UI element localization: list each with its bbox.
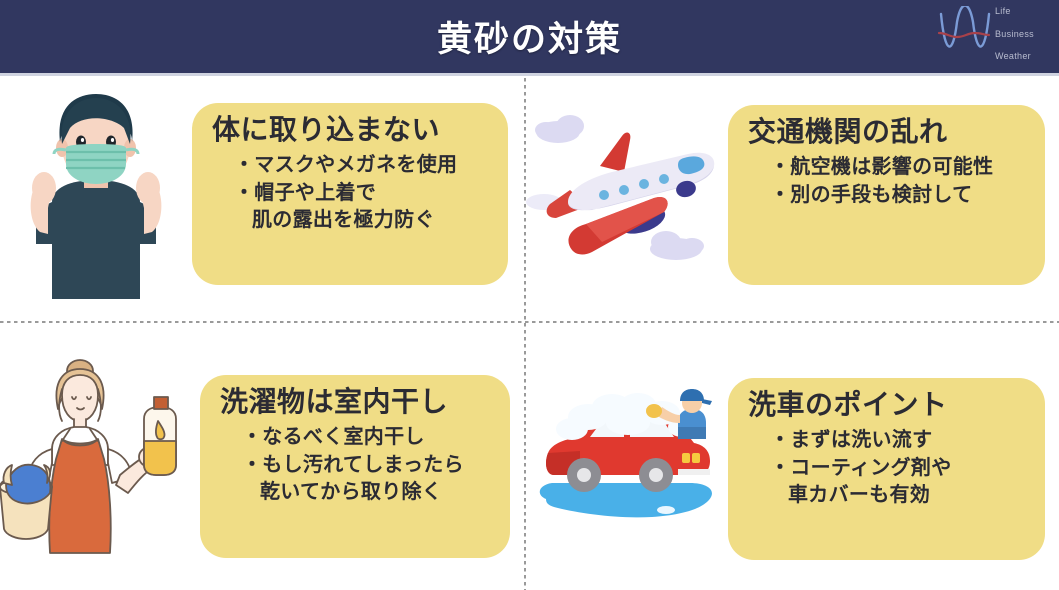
- person-wearing-mask-illustration: [8, 84, 184, 314]
- card-title: 洗車のポイント: [748, 388, 1027, 421]
- card-bullet-list: ・マスクやメガネを使用 ・帽子や上着で 肌の露出を極力防ぐ: [212, 152, 490, 235]
- card-bullet-list: ・まずは洗い流す ・コーティング剤や 車カバーも有効: [748, 427, 1027, 510]
- brand-logo: Life Business Weather: [937, 4, 1049, 64]
- quadrant-laundry-indoors: 洗濯物は室内干し ・なるべく室内干し ・もし汚れてしまったら 乾いてから取り除く: [0, 323, 524, 590]
- brand-word-business: Business: [995, 30, 1049, 39]
- header-underline: [0, 73, 1059, 76]
- card-body-protection: 体に取り込まない ・マスクやメガネを使用 ・帽子や上着で 肌の露出を極力防ぐ: [192, 103, 508, 285]
- card-bullet: ・別の手段も検討して: [748, 182, 1027, 210]
- page-title: 黄砂の対策: [0, 0, 1059, 73]
- card-title: 体に取り込まない: [212, 113, 490, 146]
- quadrant-car-wash-tips: 洗車のポイント ・まずは洗い流す ・コーティング剤や 車カバーも有効: [526, 323, 1059, 590]
- card-bullet: ・もし汚れてしまったら: [220, 452, 492, 480]
- brand-logo-words: Life Business Weather: [995, 7, 1049, 61]
- wave-w-logo-icon: [937, 6, 993, 60]
- car-being-washed-illustration: [532, 383, 728, 543]
- card-bullet: ・コーティング剤や: [748, 455, 1027, 483]
- card-bullet: ・マスクやメガネを使用: [212, 152, 490, 180]
- card-laundry-indoors: 洗濯物は室内干し ・なるべく室内干し ・もし汚れてしまったら 乾いてから取り除く: [200, 375, 510, 558]
- card-bullet: ・なるべく室内干し: [220, 424, 492, 452]
- card-bullet-continuation: 肌の露出を極力防ぐ: [212, 207, 490, 235]
- infographic-page: 黄砂の対策 Life Business Weather: [0, 0, 1059, 590]
- card-bullet-list: ・なるべく室内干し ・もし汚れてしまったら 乾いてから取り除く: [220, 424, 492, 507]
- card-title: 交通機関の乱れ: [748, 115, 1027, 148]
- woman-with-laundry-illustration: [0, 353, 196, 588]
- header-bar: 黄砂の対策 Life Business Weather: [0, 0, 1059, 73]
- airplane-with-clouds-illustration: [526, 94, 722, 276]
- quadrant-body-protection: 体に取り込まない ・マスクやメガネを使用 ・帽子や上着で 肌の露出を極力防ぐ: [0, 78, 524, 321]
- quadrant-transport-disruption: 交通機関の乱れ ・航空機は影響の可能性 ・別の手段も検討して: [526, 78, 1059, 321]
- card-title: 洗濯物は室内干し: [220, 385, 492, 418]
- brand-word-weather: Weather: [995, 52, 1049, 61]
- card-bullet: ・帽子や上着で: [212, 180, 490, 208]
- card-bullet: ・まずは洗い流す: [748, 427, 1027, 455]
- card-transport-disruption: 交通機関の乱れ ・航空機は影響の可能性 ・別の手段も検討して: [728, 105, 1045, 285]
- card-bullet-continuation: 車カバーも有効: [748, 482, 1027, 510]
- card-bullet-continuation: 乾いてから取り除く: [220, 479, 492, 507]
- card-bullet: ・航空機は影響の可能性: [748, 154, 1027, 182]
- card-car-wash-tips: 洗車のポイント ・まずは洗い流す ・コーティング剤や 車カバーも有効: [728, 378, 1045, 560]
- card-bullet-list: ・航空機は影響の可能性 ・別の手段も検討して: [748, 154, 1027, 209]
- brand-word-life: Life: [995, 7, 1049, 16]
